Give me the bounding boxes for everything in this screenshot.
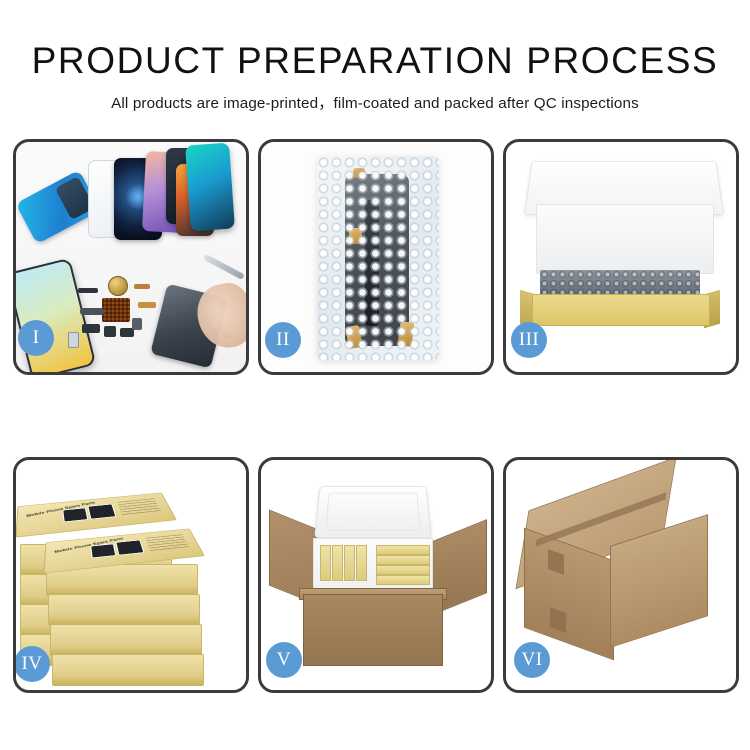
step-badge-5: V [266,642,302,678]
step-badge-4: IV [14,646,50,682]
top-box-lid: Mobile Phone Spare Parts [16,492,177,537]
process-step-panel-4: Mobile Phone Spare Parts Mobile Phone Sp… [13,457,249,693]
box-label-window [115,540,144,556]
spare-part [68,332,79,348]
inner-yellow-box [376,565,430,575]
stacked-box [52,654,204,686]
stacked-box [48,594,200,626]
inner-yellow-box [376,575,430,585]
stacked-box [50,624,202,656]
spare-part [80,308,104,315]
step-badge-3: III [511,322,547,358]
spare-part [104,326,116,337]
process-step-panel-2: II [258,139,494,375]
process-step-panel-3: III [503,139,739,375]
chip-array [102,298,130,322]
spare-part [78,288,98,293]
vibration-motor [108,276,128,296]
inner-yellow-box [376,555,430,565]
box-label-spec-lines [145,534,189,552]
spare-part [82,324,100,333]
phone-teal [185,143,235,232]
box-label-spec-lines [117,498,161,516]
process-step-panel-5: V [258,457,494,693]
process-step-panel-1: I [13,139,249,375]
step-badge-1: I [18,320,54,356]
step-badge-2: II [265,322,301,358]
page-subtitle: All products are image-printed，film-coat… [0,81,750,113]
step-4-illustration: Mobile Phone Spare Parts Mobile Phone Sp… [16,460,246,690]
foam-lid [314,486,432,538]
spare-part [138,302,156,308]
box-front-panel [532,294,710,326]
box-label-window [87,504,116,520]
header: PRODUCT PREPARATION PROCESS All products… [0,0,750,113]
carton-front-panel [303,594,443,666]
box-label-window [62,508,88,523]
step-badge-6: VI [514,642,550,678]
spare-part [132,318,142,330]
inner-yellow-box [376,545,430,555]
inner-yellow-box [320,545,331,581]
spare-part [134,284,150,289]
page-title: PRODUCT PREPARATION PROCESS [0,0,750,81]
bubble-texture [317,156,439,360]
foam-sheet [536,204,714,274]
bubble-wrap-pouch [317,156,439,360]
inner-yellow-box [332,545,343,581]
inner-yellow-box [356,545,367,581]
box-stack: Mobile Phone Spare Parts Mobile Phone Sp… [16,472,246,680]
inner-yellow-box [344,545,355,581]
process-step-grid: I II III [13,139,739,693]
process-step-panel-6: VI [503,457,739,693]
box-label-window [90,544,116,559]
